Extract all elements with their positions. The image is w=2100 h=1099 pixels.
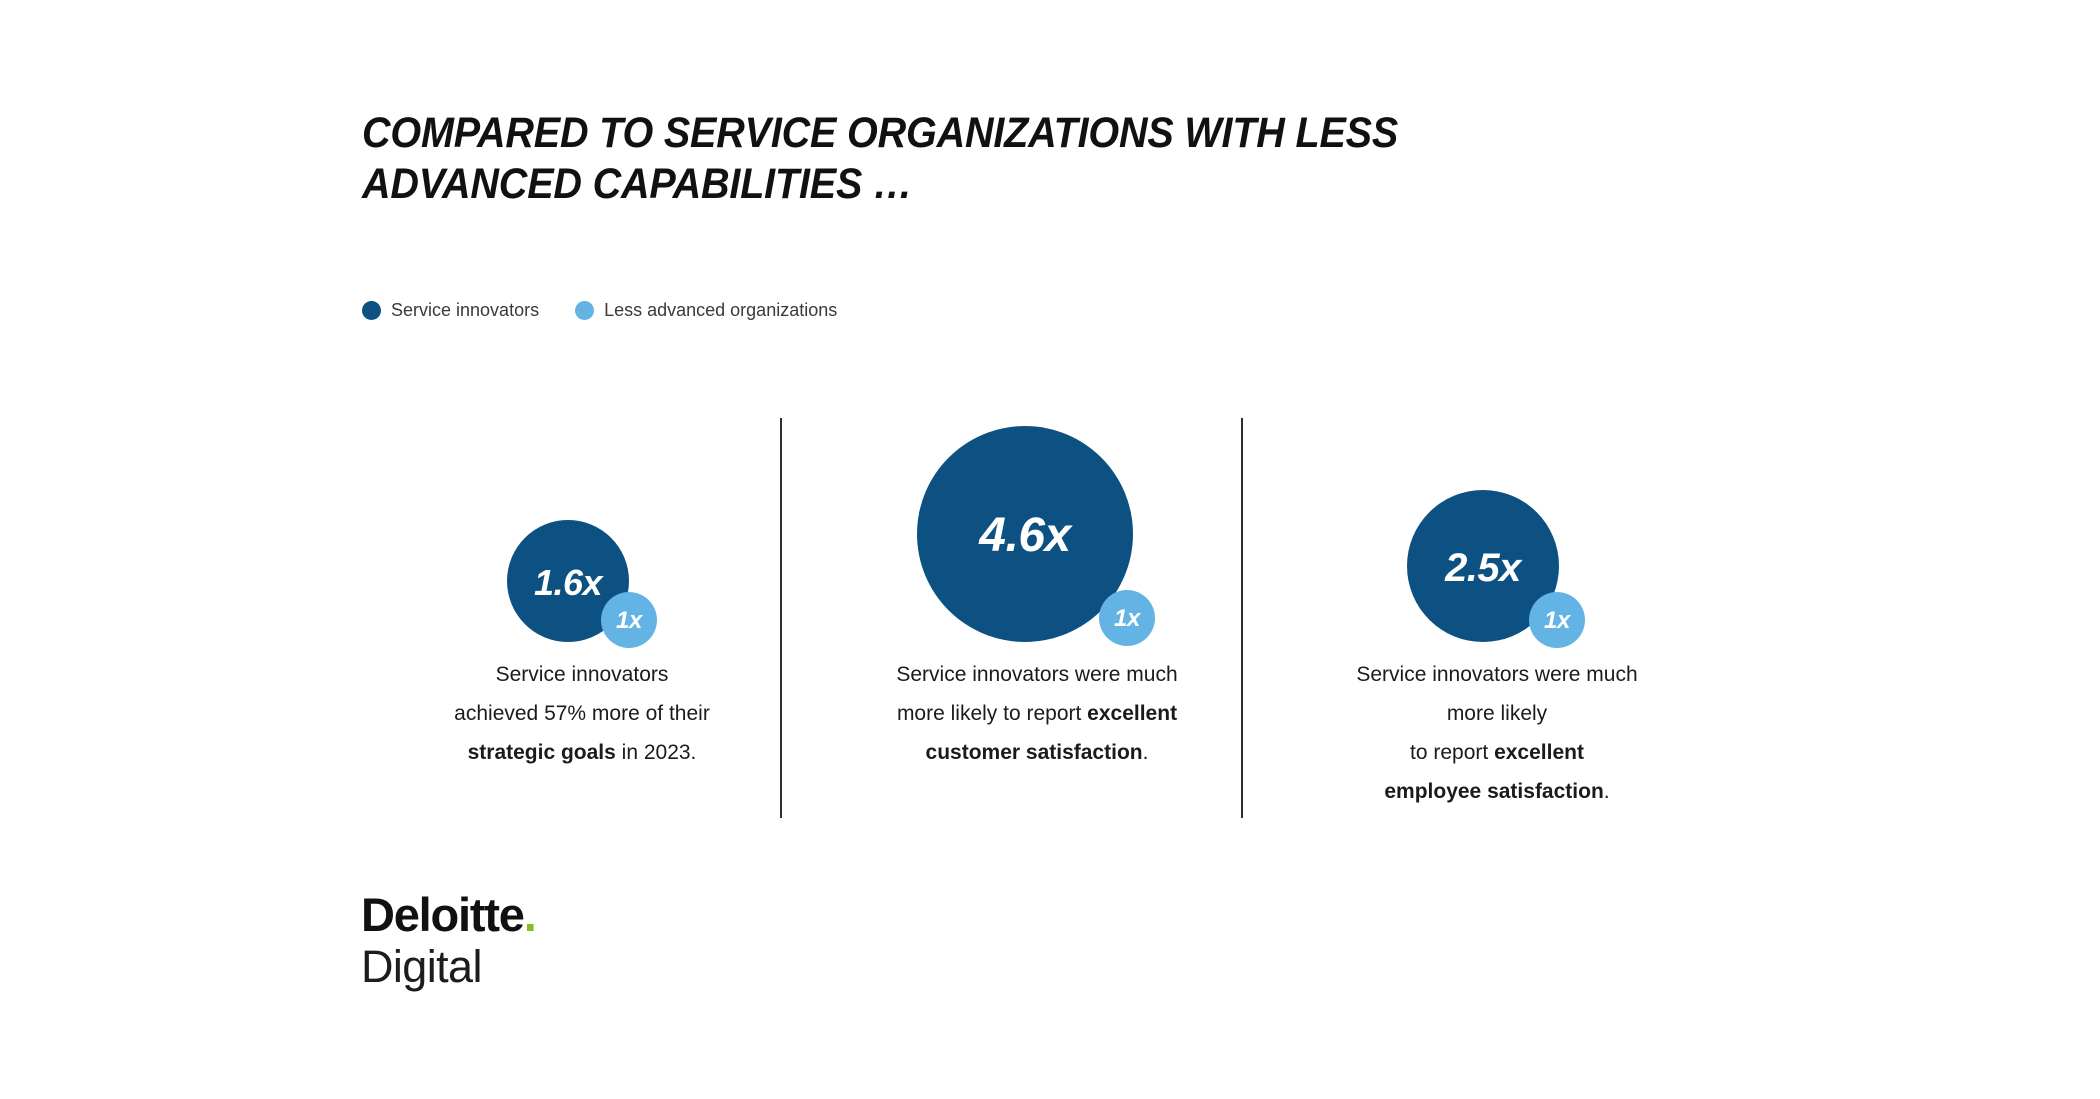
bubble-cluster-1: 1.6x 1x bbox=[507, 520, 629, 642]
caption-line: strategic goals in 2023. bbox=[362, 733, 802, 772]
stat-caption-1: Service innovatorsachieved 57% more of t… bbox=[362, 655, 802, 772]
bubble-group-3: 2.5x 1x bbox=[1277, 410, 1717, 642]
caption-text: more likely to report bbox=[897, 702, 1087, 725]
logo-wordmark: Deloitte. bbox=[361, 890, 536, 940]
page-title: COMPARED TO SERVICE ORGANIZATIONS WITH L… bbox=[362, 108, 1466, 210]
infographic-slide: COMPARED TO SERVICE ORGANIZATIONS WITH L… bbox=[0, 0, 2100, 1099]
bubble-baseline-1: 1x bbox=[601, 592, 657, 648]
caption-line: customer satisfaction. bbox=[817, 733, 1257, 772]
title-line-1: COMPARED TO SERVICE ORGANIZATIONS WITH L… bbox=[362, 108, 1466, 159]
legend-dot-icon-dark bbox=[362, 301, 381, 320]
caption-text: in 2023. bbox=[616, 741, 697, 764]
caption-line: employee satisfaction. bbox=[1277, 772, 1717, 811]
chart-legend: Service innovators Less advanced organiz… bbox=[362, 300, 837, 320]
title-line-2: ADVANCED CAPABILITIES … bbox=[362, 159, 1466, 210]
logo-subbrand: Digital bbox=[361, 942, 536, 992]
caption-line: Service innovators were much bbox=[817, 655, 1257, 694]
bubble-cluster-3: 2.5x 1x bbox=[1407, 490, 1559, 642]
caption-emphasis: employee satisfaction bbox=[1384, 780, 1603, 803]
bubble-group-2: 4.6x 1x bbox=[817, 410, 1257, 642]
legend-dot-icon-light bbox=[575, 301, 594, 320]
caption-text: more likely bbox=[1447, 702, 1547, 725]
caption-line: Service innovators bbox=[362, 655, 802, 694]
stat-column-3: 2.5x 1x Service innovators were muchmore… bbox=[1277, 410, 1717, 830]
caption-text: to report bbox=[1410, 741, 1494, 764]
stat-caption-3: Service innovators were muchmore likelyt… bbox=[1277, 655, 1717, 811]
caption-emphasis: excellent bbox=[1087, 702, 1177, 725]
logo-dot-icon: . bbox=[524, 888, 536, 941]
bubble-group-1: 1.6x 1x bbox=[362, 410, 802, 642]
bubble-value-2: 4.6x bbox=[979, 512, 1070, 560]
bubble-baseline-value-1: 1x bbox=[616, 609, 642, 633]
caption-text: achieved 57% more of their bbox=[454, 702, 710, 725]
bubble-cluster-2: 4.6x 1x bbox=[917, 426, 1133, 642]
bubble-baseline-2: 1x bbox=[1099, 590, 1155, 646]
stat-column-1: 1.6x 1x Service innovatorsachieved 57% m… bbox=[362, 410, 802, 830]
bubble-value-3: 2.5x bbox=[1445, 548, 1521, 588]
caption-text: . bbox=[1604, 780, 1610, 803]
bubble-value-1: 1.6x bbox=[534, 565, 602, 601]
caption-text: Service innovators bbox=[496, 663, 669, 686]
caption-emphasis: strategic goals bbox=[468, 741, 616, 764]
bubble-baseline-value-3: 1x bbox=[1544, 609, 1570, 633]
bubble-baseline-3: 1x bbox=[1529, 592, 1585, 648]
legend-label-service-innovators: Service innovators bbox=[391, 300, 539, 320]
stat-column-2: 4.6x 1x Service innovators were muchmore… bbox=[817, 410, 1257, 830]
bubble-baseline-value-2: 1x bbox=[1114, 607, 1140, 631]
caption-text: . bbox=[1143, 741, 1149, 764]
caption-line: more likely bbox=[1277, 694, 1717, 733]
caption-emphasis: customer satisfaction bbox=[926, 741, 1143, 764]
caption-text: Service innovators were much bbox=[1356, 663, 1637, 686]
caption-line: achieved 57% more of their bbox=[362, 694, 802, 733]
logo-name: Deloitte bbox=[361, 888, 524, 941]
deloitte-digital-logo: Deloitte. Digital bbox=[361, 890, 536, 992]
legend-item-less-advanced-organizations: Less advanced organizations bbox=[575, 300, 837, 320]
legend-label-less-advanced-organizations: Less advanced organizations bbox=[604, 300, 837, 320]
caption-text: Service innovators were much bbox=[896, 663, 1177, 686]
stats-columns: 1.6x 1x Service innovatorsachieved 57% m… bbox=[362, 410, 1742, 830]
legend-item-service-innovators: Service innovators bbox=[362, 300, 539, 320]
stat-caption-2: Service innovators were muchmore likely … bbox=[817, 655, 1257, 772]
caption-line: Service innovators were much bbox=[1277, 655, 1717, 694]
caption-line: more likely to report excellent bbox=[817, 694, 1257, 733]
caption-line: to report excellent bbox=[1277, 733, 1717, 772]
caption-emphasis: excellent bbox=[1494, 741, 1584, 764]
